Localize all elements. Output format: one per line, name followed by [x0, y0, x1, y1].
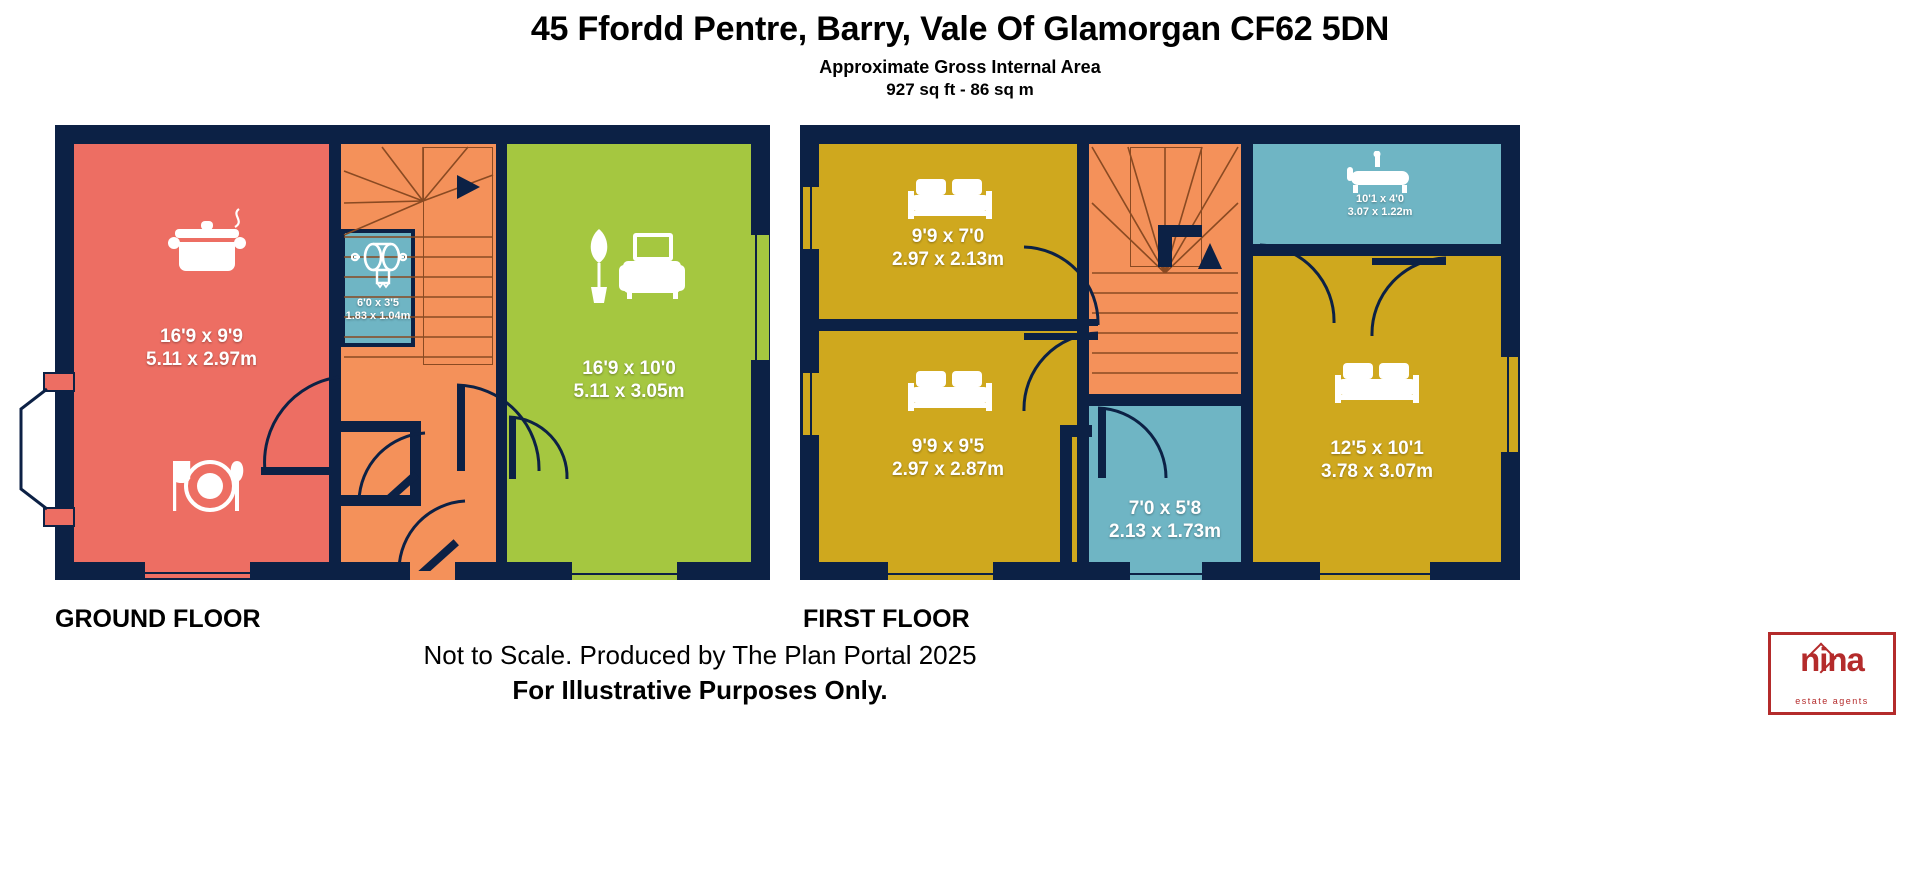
- room-lounge[interactable]: [507, 144, 751, 562]
- footer-scale-note: Not to Scale. Produced by The Plan Porta…: [0, 640, 1400, 671]
- wall-bed2-ensuite: [1060, 425, 1072, 562]
- ground-floor-plan: 16'9 x 9'9 5.11 x 2.97m 6'0 x 3'5 1.83 x…: [55, 125, 770, 580]
- room-kitchen-diner[interactable]: [74, 144, 329, 562]
- wall-hall-stub-a: [341, 421, 421, 432]
- room-bedroom-one[interactable]: [1253, 256, 1501, 562]
- room-wc-fill: [341, 229, 415, 347]
- window-kitchen-rear-line: [145, 572, 250, 574]
- wall-hall-stub-c: [341, 495, 421, 506]
- wall-landing-ensuite: [1089, 394, 1253, 406]
- stair-outline: [423, 147, 493, 365]
- ground-floor-caption: GROUND FLOOR: [55, 605, 261, 634]
- footer-illustrative-note: For Illustrative Purposes Only.: [0, 675, 1400, 706]
- wall-bed2-ensuite-stub: [1060, 425, 1092, 437]
- window-kitchen-bay-bottom: [43, 507, 75, 527]
- window-bed2-side: [803, 373, 821, 435]
- logo-name: nina: [1771, 641, 1893, 679]
- hallway-entry-recess: [410, 562, 455, 580]
- bay-window-outline-icon: [17, 387, 51, 511]
- wall-landing-nib-2: [1158, 225, 1202, 237]
- window-bed3-side-line: [810, 187, 812, 249]
- window-ensuite-rear-line: [1130, 573, 1202, 575]
- window-bed2-rear: [888, 562, 993, 580]
- area-value: 927 sq ft - 86 sq m: [0, 80, 1920, 100]
- first-floor-plan: 9'9 x 7'0 2.97 x 2.13m 9'9 x 9'5 2.97 x …: [800, 125, 1520, 580]
- window-bed3-side: [803, 187, 821, 249]
- window-bed1-rear: [1320, 562, 1430, 580]
- window-kitchen-bay-top: [43, 372, 75, 392]
- agent-logo[interactable]: nina estate agents: [1768, 632, 1896, 715]
- floorplan-canvas: 16'9 x 9'9 5.11 x 2.97m 6'0 x 3'5 1.83 x…: [0, 125, 1920, 595]
- window-bed1-rear-line: [1320, 573, 1430, 575]
- logo-tagline: estate agents: [1771, 696, 1893, 706]
- wall-bathroom-bed1: [1253, 244, 1501, 256]
- window-lounge-rear: [572, 562, 677, 580]
- wall-hall-left-lower: [329, 347, 341, 562]
- wall-bed3-bed2-divider: [819, 319, 1077, 331]
- room-bathroom[interactable]: [1253, 144, 1501, 244]
- window-lounge-side: [751, 235, 769, 360]
- window-kitchen-rear: [145, 562, 250, 578]
- wall-hall-stub-b: [410, 421, 421, 503]
- area-subtitle: Approximate Gross Internal Area: [0, 57, 1920, 78]
- room-bedroom-three[interactable]: [819, 144, 1077, 319]
- window-bed1-side: [1500, 357, 1518, 452]
- window-bed2-side-line: [810, 373, 812, 435]
- plan-header: 45 Ffordd Pentre, Barry, Vale Of Glamorg…: [0, 0, 1920, 100]
- room-bedroom-two[interactable]: [819, 331, 1077, 562]
- first-floor-caption: FIRST FLOOR: [803, 605, 970, 634]
- window-bed2-rear-line: [888, 573, 993, 575]
- window-bed1-side-line: [1507, 357, 1509, 452]
- room-en-suite[interactable]: [1089, 406, 1241, 562]
- wall-ensuite-bed1: [1241, 394, 1253, 562]
- window-lounge-side-line: [755, 235, 757, 360]
- window-ensuite-rear: [1130, 562, 1202, 580]
- window-lounge-rear-line: [572, 573, 677, 575]
- page-title: 45 Ffordd Pentre, Barry, Vale Of Glamorg…: [0, 10, 1920, 49]
